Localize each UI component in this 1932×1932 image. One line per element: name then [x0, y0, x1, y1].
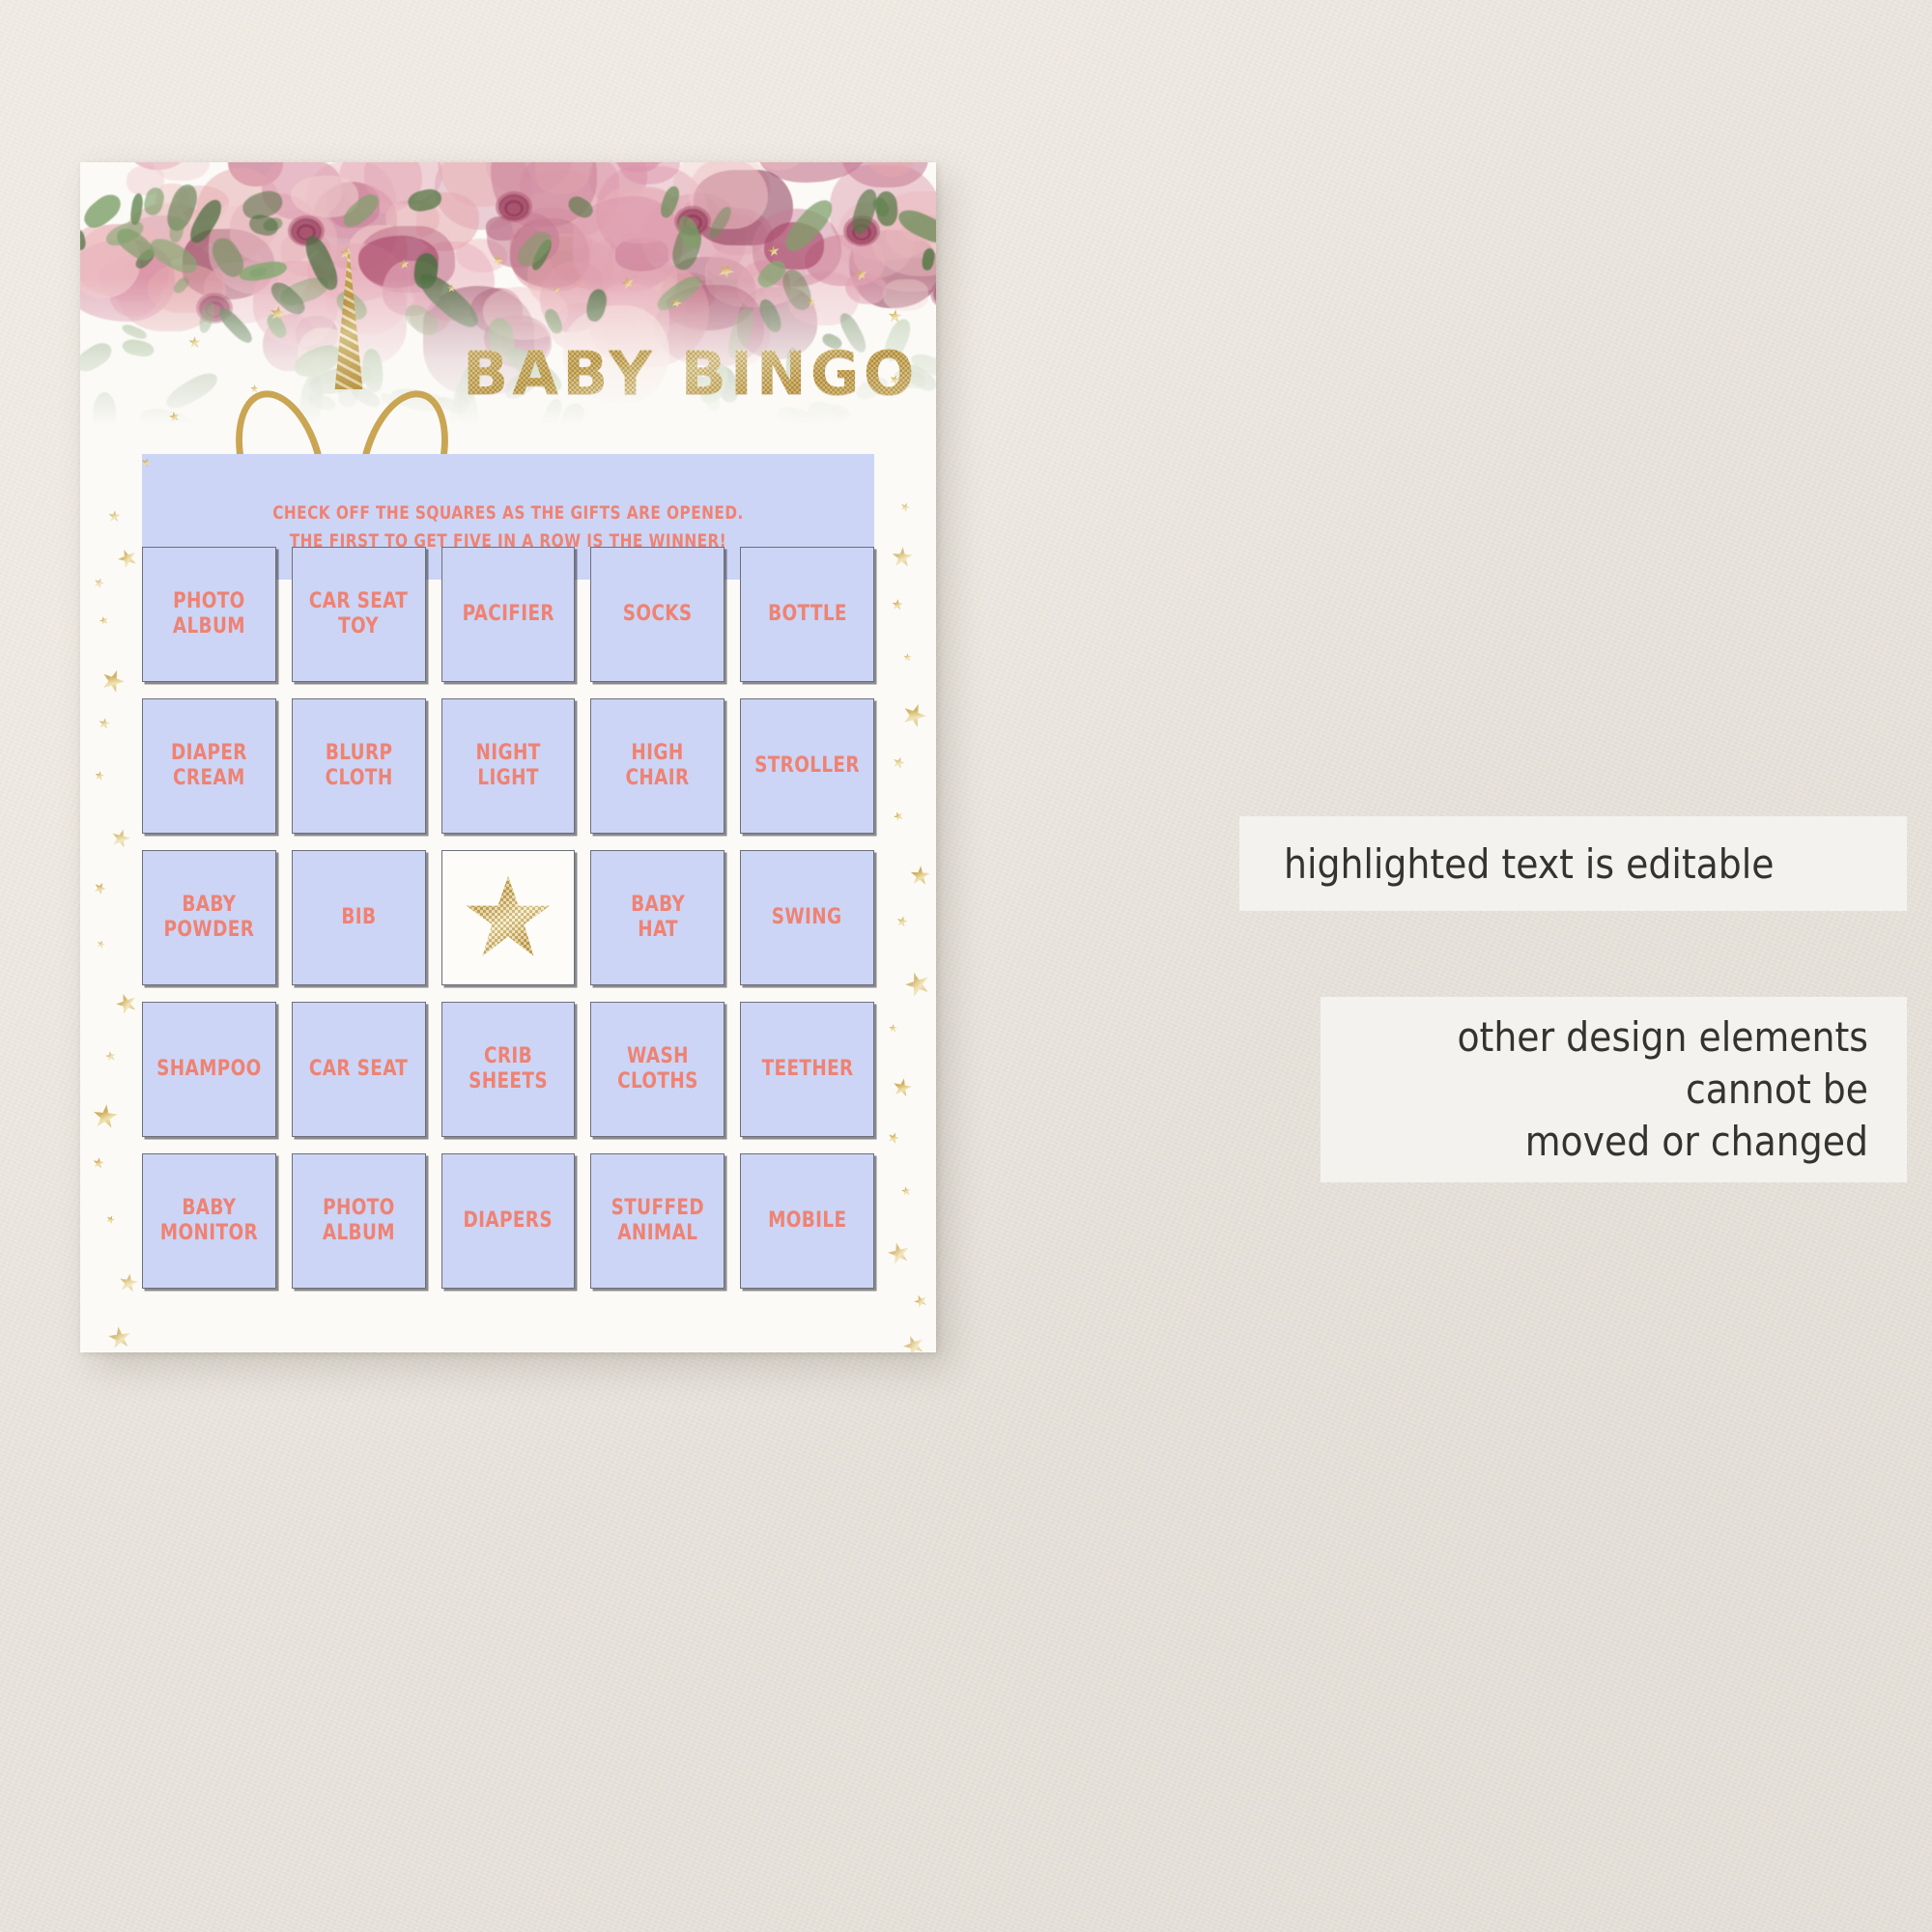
floral-rose-center-icon: [504, 200, 524, 216]
gold-glitter-star-icon: [912, 1293, 929, 1310]
floral-petal-icon: [511, 169, 609, 250]
gold-glitter-star-icon: [903, 653, 912, 662]
floral-petal-icon: [853, 215, 936, 292]
bingo-cell[interactable]: TEETHER: [740, 1002, 874, 1137]
floral-leaf-icon: [339, 189, 384, 232]
floral-leaf-icon: [875, 190, 898, 226]
gold-glitter-star-icon: [899, 699, 930, 730]
gold-glitter-star-icon: [900, 1185, 911, 1196]
floral-petal-icon: [764, 222, 824, 270]
floral-petal-icon: [615, 238, 668, 271]
annotation-editable-text: highlighted text is editable: [1239, 816, 1907, 911]
annotation-locked-elements-label: other design elements cannot be moved or…: [1457, 1011, 1868, 1167]
floral-petal-icon: [866, 162, 915, 177]
bingo-cell-label: BABY POWDER: [164, 893, 255, 942]
floral-rose-center-icon: [849, 221, 874, 242]
instructions-line-1: CHECK OFF THE SQUARES AS THE GIFTS ARE O…: [171, 500, 844, 528]
floral-leaf-icon: [145, 233, 202, 279]
floral-petal-icon: [385, 200, 440, 239]
gold-glitter-star-icon: [892, 599, 904, 611]
floral-leaf-icon: [512, 226, 556, 271]
floral-leaf-icon: [246, 213, 279, 239]
floral-petal-icon: [520, 162, 618, 237]
gold-glitter-star-icon: [854, 268, 869, 283]
floral-petal-icon: [364, 162, 442, 204]
gold-glitter-star-icon: [891, 754, 906, 770]
floral-petal-icon: [527, 234, 614, 311]
floral-petal-icon: [758, 162, 866, 183]
gold-glitter-star-icon: [98, 667, 128, 696]
bingo-cell-label: CAR SEAT TOY: [309, 589, 408, 639]
floral-petal-icon: [838, 202, 914, 278]
floral-petal-icon: [753, 209, 841, 287]
bingo-cell[interactable]: SHAMPOO: [142, 1002, 276, 1137]
bingo-cell-label: CAR SEAT: [309, 1057, 408, 1082]
floral-petal-icon: [80, 225, 140, 298]
floral-leaf-icon: [196, 300, 216, 334]
bingo-cell[interactable]: SOCKS: [590, 547, 724, 682]
gold-glitter-star-icon: [806, 297, 818, 309]
floral-leaf-icon: [406, 186, 443, 214]
floral-petal-icon: [438, 162, 527, 207]
floral-petal-icon: [788, 271, 859, 325]
gold-glitter-star-icon: [92, 1103, 120, 1131]
floral-petal-icon: [673, 162, 769, 227]
bingo-cell[interactable]: STROLLER: [740, 698, 874, 834]
floral-leaf-icon: [921, 247, 936, 271]
gold-glitter-star-icon: [910, 865, 931, 886]
floral-petal-icon: [707, 244, 770, 304]
floral-petal-icon: [156, 184, 189, 215]
floral-petal-icon: [641, 193, 746, 280]
floral-rose-center-icon: [680, 212, 705, 233]
bingo-cell-free[interactable]: [441, 850, 576, 985]
floral-leaf-icon: [80, 188, 126, 233]
floral-leaf-icon: [240, 187, 286, 223]
floral-petal-icon: [645, 290, 688, 326]
bingo-cell[interactable]: PHOTO ALBUM: [142, 547, 276, 682]
gold-glitter-star-icon: [619, 274, 636, 291]
floral-petal-icon: [470, 288, 524, 333]
floral-rose-center-icon: [299, 227, 313, 239]
bingo-cell-label: DIAPER CREAM: [171, 741, 247, 790]
floral-petal-icon: [583, 234, 671, 310]
bingo-cell-label: PACIFIER: [462, 602, 554, 627]
floral-petal-icon: [661, 257, 755, 330]
floral-petal-icon: [262, 162, 342, 220]
floral-rose-center-icon: [288, 215, 325, 246]
gold-glitter-star-icon: [895, 915, 909, 928]
floral-leaf-icon: [185, 196, 226, 247]
floral-rose-center-icon: [291, 218, 322, 244]
bingo-cell[interactable]: PHOTO ALBUM: [292, 1153, 426, 1289]
floral-petal-icon: [737, 261, 789, 311]
gold-glitter-star-icon: [95, 939, 105, 950]
floral-leaf-icon: [583, 288, 608, 324]
floral-leaf-icon: [565, 192, 596, 220]
floral-petal-icon: [80, 224, 172, 297]
floral-leaf-icon: [756, 297, 785, 335]
floral-rose-center-icon: [686, 217, 699, 229]
bingo-cell-label: WASH CLOTHS: [617, 1044, 698, 1094]
floral-petal-icon: [618, 162, 679, 185]
floral-petal-icon: [153, 162, 210, 181]
floral-leaf-icon: [133, 246, 158, 271]
gold-glitter-star-icon: [886, 1130, 900, 1145]
gold-glitter-star-icon: [715, 260, 736, 281]
gold-glitter-star-icon: [466, 875, 551, 960]
floral-rose-center-icon: [683, 214, 702, 231]
bingo-cell[interactable]: WASH CLOTHS: [590, 1002, 724, 1137]
floral-petal-icon: [486, 216, 521, 241]
bingo-cell-label: NIGHT LIGHT: [475, 741, 540, 790]
gold-glitter-star-icon: [104, 1214, 116, 1226]
gold-glitter-star-icon: [104, 1050, 117, 1063]
gold-glitter-star-icon: [887, 308, 902, 324]
bingo-cell[interactable]: BABY POWDER: [142, 850, 276, 985]
floral-petal-icon: [491, 162, 597, 227]
gold-glitter-star-icon: [94, 770, 105, 781]
floral-petal-icon: [535, 162, 592, 194]
gold-glitter-star-icon: [92, 1156, 105, 1170]
gold-glitter-star-icon: [669, 296, 683, 309]
bingo-cell-label: HIGH CHAIR: [626, 741, 690, 790]
floral-petal-icon: [118, 242, 222, 331]
floral-leaf-icon: [784, 405, 829, 440]
bingo-cell[interactable]: MOBILE: [740, 1153, 874, 1289]
floral-petal-icon: [196, 168, 281, 255]
gold-glitter-star-icon: [188, 336, 201, 349]
floral-petal-icon: [610, 188, 685, 261]
floral-rose-center-icon: [498, 194, 529, 220]
floral-leaf-icon: [674, 213, 704, 252]
floral-leaf-icon: [848, 186, 881, 237]
bingo-cell[interactable]: BABY HAT: [590, 850, 724, 985]
floral-petal-icon: [830, 165, 936, 261]
bingo-cell-label: SOCKS: [623, 602, 693, 627]
gold-glitter-star-icon: [92, 576, 105, 589]
gold-glitter-star-icon: [886, 1240, 913, 1267]
floral-petal-icon: [602, 247, 677, 306]
gold-glitter-star-icon: [491, 253, 505, 268]
floral-petal-icon: [689, 162, 768, 229]
floral-petal-icon: [696, 208, 773, 280]
floral-rose-center-icon: [846, 218, 877, 244]
bingo-cell-label: BIB: [341, 905, 376, 930]
bingo-cell-label: DIAPERS: [464, 1208, 553, 1234]
bingo-cell[interactable]: BOTTLE: [740, 547, 874, 682]
floral-petal-icon: [99, 254, 169, 301]
bingo-cell[interactable]: NIGHT LIGHT: [441, 698, 576, 834]
floral-petal-icon: [613, 162, 688, 163]
bingo-cell-label: BOTTLE: [768, 602, 847, 627]
floral-leaf-icon: [103, 216, 147, 249]
bingo-cell[interactable]: CAR SEAT: [292, 1002, 426, 1137]
floral-petal-icon: [841, 162, 928, 187]
bingo-cell-label: STROLLER: [754, 753, 860, 779]
gold-glitter-star-icon: [115, 546, 140, 571]
floral-leaf-icon: [753, 256, 790, 292]
gold-glitter-star-icon: [168, 411, 181, 423]
bingo-cell-label: STUFFED ANIMAL: [611, 1196, 704, 1245]
floral-petal-icon: [127, 165, 164, 194]
gold-glitter-star-icon: [99, 615, 109, 626]
gold-glitter-star-icon: [552, 285, 560, 294]
floral-leaf-icon: [92, 392, 116, 444]
floral-rose-center-icon: [496, 191, 532, 222]
annotation-editable-text-label: highlighted text is editable: [1284, 840, 1775, 888]
page-title: BABY BINGO: [463, 338, 918, 409]
bingo-cell-label: SHAMPOO: [156, 1057, 262, 1082]
floral-petal-icon: [80, 240, 175, 322]
floral-petal-icon: [510, 208, 593, 290]
floral-petal-icon: [177, 185, 229, 220]
bingo-grid: PHOTO ALBUMCAR SEAT TOYPACIFIERSOCKSBOTT…: [142, 547, 874, 1289]
floral-petal-icon: [883, 279, 928, 311]
floral-rose-center-icon: [294, 221, 319, 242]
floral-rose-center-icon: [930, 278, 936, 309]
bingo-cell-label: PHOTO ALBUM: [323, 1196, 395, 1245]
floral-rose-center-icon: [677, 209, 708, 235]
floral-petal-icon: [609, 232, 658, 270]
gold-glitter-star-icon: [767, 244, 781, 258]
bingo-cell-label: SWING: [772, 905, 842, 930]
gold-glitter-star-icon: [108, 510, 122, 524]
floral-petal-icon: [540, 262, 609, 332]
floral-leaf-icon: [162, 181, 202, 235]
floral-leaf-icon: [162, 368, 222, 414]
unicorn-horn-icon: [329, 244, 368, 389]
floral-petal-icon: [805, 235, 886, 287]
floral-petal-icon: [871, 191, 936, 276]
floral-rose-center-icon: [507, 203, 521, 214]
floral-leaf-icon: [137, 405, 199, 441]
bingo-cell[interactable]: BIB: [292, 850, 426, 985]
floral-rose-center-icon: [933, 281, 936, 307]
floral-leaf-icon: [870, 195, 892, 219]
bingo-cell-label: BABY HAT: [631, 893, 685, 942]
floral-petal-icon: [596, 166, 707, 262]
floral-leaf-icon: [80, 228, 87, 252]
gold-glitter-star-icon: [109, 827, 133, 851]
floral-petal-icon: [483, 287, 568, 340]
floral-petal-icon: [598, 186, 682, 243]
bingo-cell[interactable]: DIAPER CREAM: [142, 698, 276, 834]
floral-rose-center-icon: [674, 206, 711, 237]
bingo-cell-label: MOBILE: [768, 1208, 846, 1234]
bingo-cell[interactable]: DIAPERS: [441, 1153, 576, 1289]
gold-glitter-star-icon: [892, 546, 914, 568]
gold-glitter-star-icon: [92, 880, 108, 896]
floral-petal-icon: [754, 162, 805, 170]
floral-leaf-icon: [121, 322, 149, 341]
floral-leaf-icon: [129, 192, 145, 225]
floral-petal-icon: [109, 267, 161, 317]
floral-leaf-icon: [80, 338, 116, 376]
floral-petal-icon: [550, 210, 648, 290]
floral-petal-icon: [694, 170, 792, 246]
gold-glitter-star-icon: [902, 969, 934, 1001]
floral-petal-icon: [307, 162, 396, 239]
bingo-card: BABY BINGO BABY BINGO CHECK OFF THE SQUA…: [80, 162, 936, 1352]
bingo-cell[interactable]: SWING: [740, 850, 874, 985]
floral-leaf-icon: [171, 275, 192, 297]
floral-leaf-icon: [542, 306, 565, 335]
floral-leaf-icon: [657, 184, 681, 219]
floral-petal-icon: [510, 218, 590, 288]
bingo-cell[interactable]: STUFFED ANIMAL: [590, 1153, 724, 1289]
floral-petal-icon: [228, 162, 282, 186]
floral-rose-center-icon: [205, 301, 224, 318]
floral-leaf-icon: [654, 271, 706, 316]
floral-petal-icon: [148, 265, 225, 313]
floral-petal-icon: [902, 215, 936, 241]
floral-petal-icon: [660, 272, 716, 314]
floral-leaf-icon: [706, 204, 735, 241]
floral-leaf-icon: [112, 223, 158, 266]
floral-leaf-icon: [895, 204, 936, 249]
gold-glitter-star-icon: [900, 1332, 927, 1352]
bingo-cell[interactable]: PACIFIER: [441, 547, 576, 682]
floral-petal-icon: [573, 196, 684, 294]
floral-leaf-icon: [262, 216, 284, 233]
floral-rose-center-icon: [843, 215, 880, 246]
floral-petal-icon: [125, 215, 196, 260]
gold-glitter-star-icon: [107, 1324, 133, 1350]
floral-petal-icon: [127, 203, 211, 256]
floral-petal-icon: [435, 162, 533, 230]
floral-petal-icon: [339, 162, 423, 213]
floral-leaf-icon: [121, 338, 155, 359]
floral-petal-icon: [849, 230, 936, 308]
floral-petal-icon: [327, 182, 380, 228]
floral-petal-icon: [588, 162, 647, 205]
floral-petal-icon: [886, 209, 936, 258]
floral-petal-icon: [711, 214, 766, 255]
floral-rose-center-icon: [852, 224, 871, 241]
floral-rose-center-icon: [855, 227, 868, 239]
floral-leaf-icon: [668, 221, 705, 272]
bingo-cell-label: CRIB SHEETS: [469, 1044, 548, 1094]
floral-leaf-icon: [779, 266, 816, 314]
gold-glitter-star-icon: [891, 1076, 913, 1098]
floral-leaf-icon: [168, 215, 185, 243]
floral-rose-center-icon: [202, 298, 227, 320]
floral-petal-icon: [416, 192, 479, 251]
floral-leaf-icon: [529, 237, 554, 271]
bingo-cell[interactable]: BLURP CLOTH: [292, 698, 426, 834]
bingo-cell[interactable]: BABY MONITOR: [142, 1153, 276, 1289]
floral-petal-icon: [845, 273, 887, 304]
bingo-cell[interactable]: HIGH CHAIR: [590, 698, 724, 834]
floral-leaf-icon: [780, 193, 838, 256]
bingo-cell-label: BABY MONITOR: [160, 1196, 258, 1245]
gold-glitter-star-icon: [899, 500, 912, 513]
bingo-cell[interactable]: CAR SEAT TOY: [292, 547, 426, 682]
floral-rose-center-icon: [297, 224, 316, 241]
floral-leaf-icon: [142, 185, 166, 217]
floral-rose-center-icon: [208, 304, 221, 316]
floral-petal-icon: [615, 162, 659, 172]
floral-rose-center-icon: [501, 197, 526, 218]
gold-glitter-star-icon: [98, 717, 111, 730]
gold-glitter-star-icon: [889, 1024, 898, 1034]
floral-petal-icon: [683, 198, 719, 228]
gold-glitter-star-icon: [113, 990, 140, 1017]
bingo-cell-label: TEETHER: [761, 1057, 853, 1082]
bingo-cell-label: BLURP CLOTH: [325, 741, 392, 790]
floral-petal-icon: [124, 162, 188, 170]
floral-petal-icon: [486, 162, 572, 194]
floral-petal-icon: [291, 176, 358, 218]
bingo-cell[interactable]: CRIB SHEETS: [441, 1002, 576, 1137]
annotation-locked-elements: other design elements cannot be moved or…: [1321, 997, 1907, 1182]
gold-glitter-star-icon: [117, 1271, 139, 1293]
bingo-cell-label: PHOTO ALBUM: [173, 589, 245, 639]
gold-glitter-star-icon: [893, 810, 905, 822]
